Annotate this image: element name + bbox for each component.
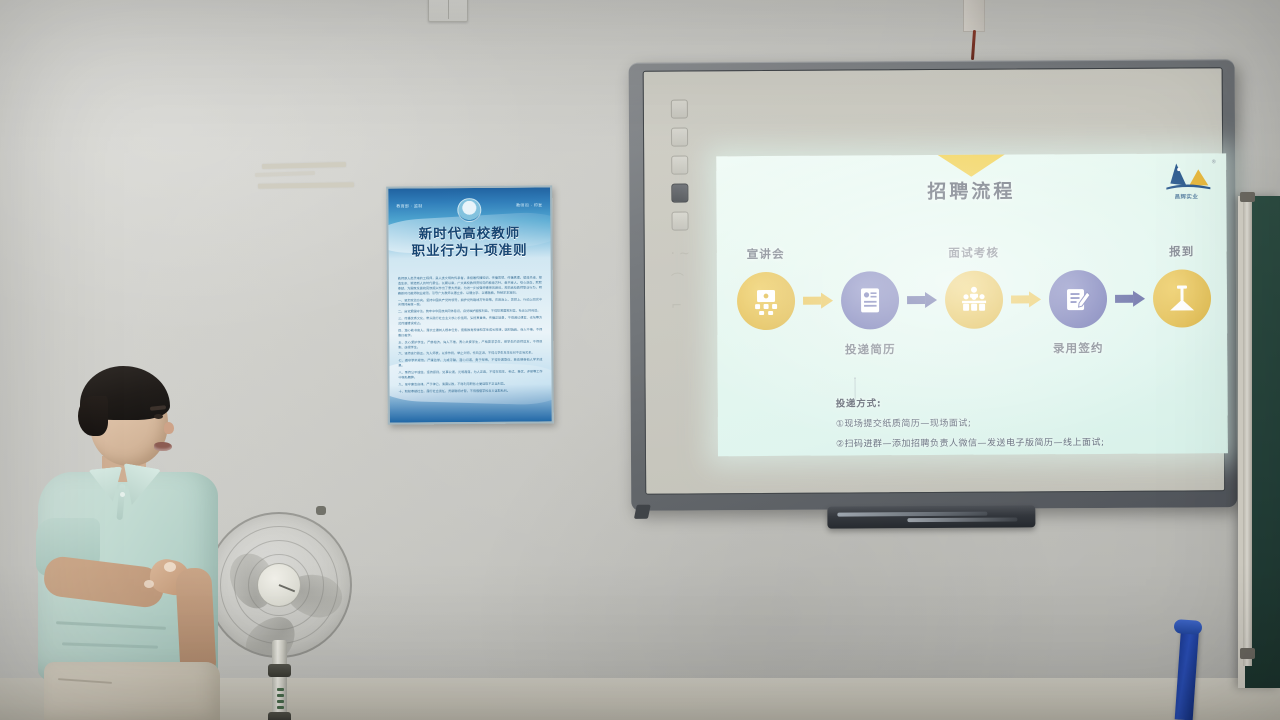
presenter-sideburn bbox=[78, 396, 108, 436]
presentation-screen-icon bbox=[751, 286, 781, 316]
whiteboard-side-buttons[interactable] bbox=[671, 99, 692, 239]
poster-body-paragraph: 七、遵守学术规范。严谨治学，力戒浮躁，潜心问道，勇于探索，不得抄袭剽窃、篡改侵吞… bbox=[398, 358, 542, 369]
resume-document-icon bbox=[855, 285, 885, 315]
flow-arrow-2 bbox=[907, 292, 937, 308]
wall-poster: 教育部 · 监制 教师司 · 印发 新时代高校教师 职业行为十项准则 教师是人类… bbox=[386, 185, 554, 424]
presenter-pants bbox=[44, 662, 220, 720]
blackboard-post bbox=[1243, 196, 1252, 666]
flow-step-3-label: 面试考核 bbox=[948, 245, 999, 261]
presenter-hand-highlight bbox=[144, 580, 154, 588]
wall-switch-plate[interactable] bbox=[428, 0, 468, 22]
notes-item-1: ①现场提交纸质简历—现场面试; bbox=[836, 414, 1196, 429]
poster-title: 新时代高校教师 职业行为十项准则 bbox=[388, 225, 550, 261]
flow-arrow-3 bbox=[1011, 291, 1041, 307]
company-logo: ® 昌辉实业 bbox=[1158, 161, 1214, 199]
flow-step-1: 宣讲会 bbox=[737, 272, 795, 330]
poster-body-paragraph: 五、关心爱护学生。严慈相济，诲人不倦，真心关爱学生，严格要求学生，做学生的良师益… bbox=[398, 339, 542, 350]
flow-step-3: 面试考核 bbox=[945, 271, 1003, 329]
whiteboard-button-1[interactable] bbox=[671, 99, 688, 118]
flow-step-2-label: 投递简历 bbox=[845, 341, 896, 357]
poster-body-paragraph: 教师是人类灵魂的工程师，是人类文明的传承者，承担着传播知识、传播思想、传播真理，… bbox=[398, 275, 542, 296]
poster-body-paragraph: 九、坚守廉洁自律。严于律己，清廉从教，不得利用职务之便谋取不正当利益。 bbox=[399, 381, 543, 387]
contract-sign-icon bbox=[1063, 284, 1093, 314]
flow-step-4: 录用签约 bbox=[1049, 270, 1107, 328]
slide-chevron-banner bbox=[901, 153, 1041, 177]
poster-seal-left: 教育部 · 监制 bbox=[396, 203, 422, 209]
presenter-mouth bbox=[154, 442, 172, 451]
whiteboard-button-4-active[interactable] bbox=[671, 183, 688, 202]
poster-body-text: 教师是人类灵魂的工程师，是人类文明的传承者，承担着传播知识、传播思想、传播真理，… bbox=[398, 275, 543, 396]
whiteboard-mount-bracket bbox=[634, 505, 651, 519]
flow-arrow-4 bbox=[1115, 291, 1145, 307]
poster-body-paragraph: 十、积极奉献社会。履行社会责任，贡献聪明才智，不得假借学校名义谋取私利。 bbox=[399, 388, 543, 394]
notes-item-2: ②扫码进群—添加招聘负责人微信—发送电子版简历—线上面试; bbox=[836, 434, 1196, 449]
poster-seal-right: 教师司 · 印发 bbox=[516, 202, 542, 208]
poster-body-paragraph: 四、潜心教书育人。落实立德树人根本任务，遵循教育规律和学生成长规律，因材施教，诲… bbox=[398, 327, 542, 338]
poster-body-paragraph: 一、坚定政治方向。坚持中国共产党的领导，拥护党的路线方针政策，在政治上、思想上、… bbox=[398, 297, 542, 308]
fan-collar-lower bbox=[268, 712, 291, 720]
blackboard-post-cap-bottom bbox=[1240, 648, 1255, 659]
logo-company-name: 昌辉实业 bbox=[1158, 192, 1214, 200]
poster-body-paragraph: 三、传播优秀文化。带头践行社会主义核心价值观，弘扬真善美，传播正能量，不得通过课… bbox=[398, 316, 542, 327]
blue-chair-top bbox=[1174, 619, 1203, 635]
presenter-hand-highlight bbox=[164, 562, 176, 572]
poster-emblem-icon bbox=[457, 198, 481, 222]
poster-body-paragraph: 八、秉持公平诚信。坚持原则，处事公道，光明磊落，为人正直，不得在招生、考试、推优… bbox=[398, 369, 542, 380]
whiteboard-marker-smudge: · ~ ⌒ ⌐ bbox=[671, 241, 693, 319]
presenter-nose bbox=[164, 422, 174, 434]
whiteboard-button-2[interactable] bbox=[671, 127, 688, 146]
presenter-eye bbox=[154, 414, 163, 419]
flow-step-4-label: 录用签约 bbox=[1053, 340, 1104, 356]
whiteboard-pen-tray[interactable] bbox=[827, 505, 1035, 528]
fan-cage-clip bbox=[316, 506, 326, 515]
flow-step-5-label: 报到 bbox=[1169, 243, 1195, 259]
flow-step-1-label: 宣讲会 bbox=[747, 246, 785, 262]
poster-body-paragraph: 六、坚持言行雅正。为人师表，以身作则，举止文明，作风正派，不得与学生发生任何不正… bbox=[398, 351, 542, 357]
poster-title-line1: 新时代高校教师 bbox=[388, 225, 550, 243]
presenter-shirt-button bbox=[120, 492, 125, 497]
classroom-photo-scene: 教育部 · 监制 教师司 · 印发 新时代高校教师 职业行为十项准则 教师是人类… bbox=[0, 0, 1280, 720]
presenter bbox=[28, 362, 258, 720]
whiteboard-surface[interactable]: · ~ ⌒ ⌐ 招聘流程 ® 昌辉实业 bbox=[643, 67, 1226, 495]
interview-panel-icon bbox=[959, 285, 989, 315]
blackboard-post-cap-top bbox=[1240, 192, 1255, 202]
fan-collar-upper bbox=[268, 664, 291, 677]
fan-hub-marker bbox=[279, 584, 296, 592]
projected-slide: 招聘流程 ® 昌辉实业 宣讲会 bbox=[716, 153, 1228, 456]
notes-heading: 投递方式: bbox=[836, 393, 1196, 409]
flow-step-5: 报到 bbox=[1153, 269, 1211, 327]
whiteboard-button-3[interactable] bbox=[671, 155, 688, 174]
logo-mark-icon bbox=[1158, 161, 1214, 191]
fan-hub-cap bbox=[257, 563, 301, 607]
poster-title-line2: 职业行为十项准则 bbox=[389, 243, 551, 261]
recruitment-flow-diagram: 宣讲会 bbox=[737, 249, 1212, 350]
poster-seal-captions: 教育部 · 监制 教师司 · 印发 bbox=[396, 202, 542, 209]
flow-step-2: 投递简历 bbox=[841, 271, 899, 329]
poster-body-paragraph: 二、自觉爱国守法。铸牢中华民族共同体意识，自觉维护国家利益，不得损害国家利益、社… bbox=[398, 309, 542, 315]
flow-arrow-1 bbox=[803, 293, 833, 309]
fan-control-buttons[interactable] bbox=[274, 688, 286, 710]
slide-title: 招聘流程 bbox=[716, 175, 1226, 205]
cable-conduit bbox=[963, 0, 985, 32]
whiteboard-button-5[interactable] bbox=[672, 211, 689, 230]
interactive-whiteboard[interactable]: · ~ ⌒ ⌐ 招聘流程 ® 昌辉实业 bbox=[621, 53, 1246, 532]
registered-mark-icon: ® bbox=[1211, 159, 1216, 165]
slide-notes: 投递方式: ①现场提交纸质简历—现场面试; ②扫码进群—添加招聘负责人微信—发送… bbox=[836, 393, 1196, 456]
graduation-cap-icon bbox=[1167, 283, 1197, 313]
